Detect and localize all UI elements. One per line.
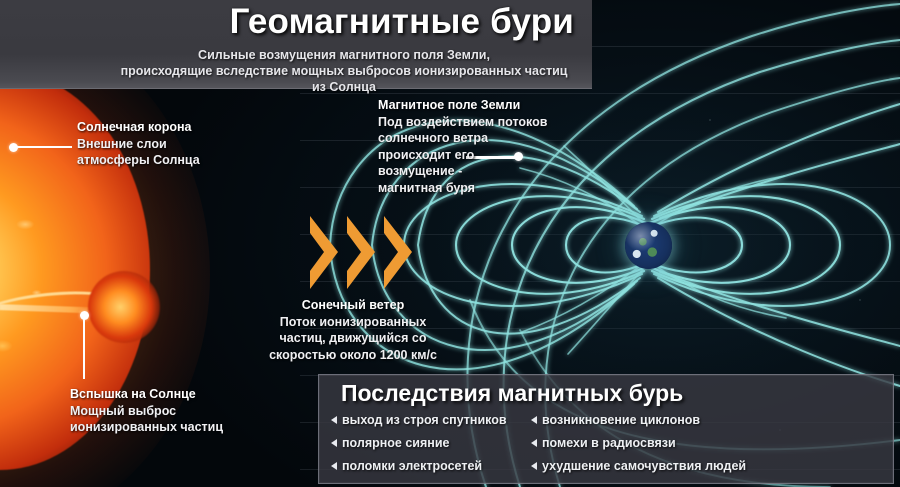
flare-leader-line bbox=[83, 316, 85, 379]
solar-wind-arrow-3 bbox=[382, 215, 416, 290]
callout-magnetic-field: Магнитное поле Земли Под воздействием по… bbox=[378, 97, 554, 196]
bullet-triangle-icon bbox=[531, 462, 537, 470]
list-item-label: поломки электросетей bbox=[342, 459, 482, 473]
title-banner: Геомагнитные бури Сильные возмущения маг… bbox=[0, 0, 592, 88]
list-item-label: помехи в радиосвязи bbox=[542, 436, 676, 450]
list-item: помехи в радиосвязи bbox=[531, 436, 861, 450]
consequences-columns: выход из строя спутников полярное сияние… bbox=[331, 413, 885, 473]
flare-ejection-blob bbox=[88, 271, 160, 343]
callout-solar-flare: Вспышка на Солнце Мощный выброс ионизиро… bbox=[70, 386, 270, 436]
callout-solar-wind: Сонечный ветер Поток ионизированных част… bbox=[248, 297, 458, 363]
corona-leader-line bbox=[14, 146, 72, 148]
consequences-column-left: выход из строя спутников полярное сияние… bbox=[331, 413, 531, 473]
callout-magnetic-field-line-1: Под воздействием потоков bbox=[378, 115, 547, 129]
callout-magnetic-field-line-4: возмущение - bbox=[378, 164, 462, 178]
consequences-column-right: возникновение циклонов помехи в радиосвя… bbox=[531, 413, 861, 473]
earth-globe bbox=[625, 222, 672, 269]
list-item-label: выход из строя спутников bbox=[342, 413, 507, 427]
callout-solar-corona-heading: Солнечная корона bbox=[77, 119, 257, 136]
callout-solar-wind-line-2: частиц, движущийся со bbox=[280, 331, 427, 345]
list-item: выход из строя спутников bbox=[331, 413, 531, 427]
callout-magnetic-field-line-2: солнечного ветра bbox=[378, 131, 488, 145]
callout-magnetic-field-heading: Магнитное поле Земли bbox=[378, 97, 554, 114]
solar-wind-arrow-1 bbox=[308, 215, 342, 290]
solar-wind-arrows bbox=[308, 215, 418, 290]
bullet-triangle-icon bbox=[531, 439, 537, 447]
subtitle-line-2: происходящие вследствие мощных выбросов … bbox=[121, 64, 568, 94]
list-item: поломки электросетей bbox=[331, 459, 531, 473]
bullet-triangle-icon bbox=[331, 439, 337, 447]
callout-magnetic-field-line-3: происходит его bbox=[378, 148, 474, 162]
callout-solar-flare-heading: Вспышка на Солнце bbox=[70, 386, 270, 403]
callout-solar-wind-heading: Сонечный ветер bbox=[248, 297, 458, 314]
callout-solar-flare-line-2: ионизированных частиц bbox=[70, 420, 223, 434]
page-title: Геомагнитные бури bbox=[230, 2, 574, 42]
list-item: ухудшение самочувствия людей bbox=[531, 459, 861, 473]
bullet-triangle-icon bbox=[531, 416, 537, 424]
bullet-triangle-icon bbox=[331, 462, 337, 470]
consequences-title: Последствия магнитных бурь bbox=[341, 380, 683, 407]
page-subtitle: Сильные возмущения магнитного поля Земли… bbox=[114, 47, 574, 95]
infographic-canvas: Геомагнитные бури Сильные возмущения маг… bbox=[0, 0, 900, 487]
subtitle-line-1: Сильные возмущения магнитного поля Земли… bbox=[198, 48, 490, 62]
list-item-label: ухудшение самочувствия людей bbox=[542, 459, 746, 473]
callout-solar-corona-line-1: Внешние слои bbox=[77, 137, 167, 151]
list-item: полярное сияние bbox=[331, 436, 531, 450]
solar-wind-arrow-2 bbox=[345, 215, 379, 290]
bullet-triangle-icon bbox=[331, 416, 337, 424]
list-item-label: возникновение циклонов bbox=[542, 413, 700, 427]
list-item-label: полярное сияние bbox=[342, 436, 449, 450]
callout-solar-corona: Солнечная корона Внешние слои атмосферы … bbox=[77, 119, 257, 169]
solar-prominence bbox=[0, 275, 160, 345]
consequences-panel: Последствия магнитных бурь выход из стро… bbox=[318, 374, 894, 484]
list-item: возникновение циклонов bbox=[531, 413, 861, 427]
callout-solar-wind-line-3: скоростью около 1200 км/с bbox=[269, 348, 437, 362]
callout-solar-corona-line-2: атмосферы Солнца bbox=[77, 153, 200, 167]
callout-solar-wind-line-1: Поток ионизированных bbox=[280, 315, 427, 329]
callout-solar-flare-line-1: Мощный выброс bbox=[70, 404, 176, 418]
callout-magnetic-field-line-5: магнитная буря bbox=[378, 181, 475, 195]
